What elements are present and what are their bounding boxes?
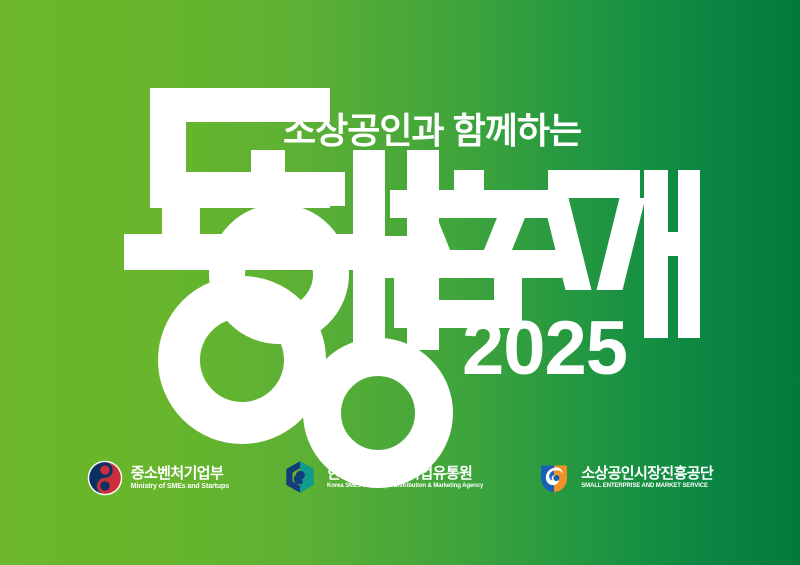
je-jieut-leg-left: [543, 198, 592, 290]
logo-agency-text: 한국중소벤처기업유통원 Korea SMEs & Startups Distri…: [327, 465, 483, 490]
haeng-hieut-bar: [185, 172, 345, 206]
chuk-u-vowel-bar: [382, 250, 562, 278]
logo-ministry-korean-name: 중소벤처기업부: [131, 465, 229, 482]
chuk-chieut-leg-left: [409, 218, 451, 252]
logo-korea-smes-distribution-agency: 한국중소벤처기업유통원 Korea SMEs & Startups Distri…: [283, 460, 483, 496]
logo-small-enterprise-and-market-service: 소상공인시장진흥공단 SMALL ENTERPRISE AND MARKET S…: [537, 460, 713, 496]
logo-ministry-english-name: Ministry of SMEs and Startups: [131, 482, 229, 491]
poster-year: 2025: [462, 311, 627, 387]
je-jieut-leg-right: [597, 198, 646, 290]
logo-agency-korean-name: 한국중소벤처기업유통원: [327, 465, 483, 482]
logo-ministry-of-smes-and-startups: 중소벤처기업부 Ministry of SMEs and Startups: [87, 460, 229, 496]
promotional-poster: 소상공인과 함께하는 2025 중소벤처기업부 Ministry of SMEs…: [0, 0, 800, 565]
logo-agency-english-name: Korea SMEs & Startups Distribution & Mar…: [327, 483, 483, 491]
logo-semas-korean-name: 소상공인시장진흥공단: [581, 465, 713, 482]
sponsor-logo-row: 중소벤처기업부 Ministry of SMEs and Startups 한국…: [0, 453, 800, 503]
chuk-chieut-bar: [390, 190, 548, 218]
haeng-hieut-stub: [251, 150, 285, 172]
logo-ministry-text: 중소벤처기업부 Ministry of SMEs and Startups: [131, 465, 229, 491]
chuk-chieut-leg-right: [483, 218, 525, 252]
taegeuk-swirl-icon: [87, 460, 123, 496]
logo-semas-text: 소상공인시장진흥공단 SMALL ENTERPRISE AND MARKET S…: [581, 465, 713, 490]
logo-semas-english-name: SMALL ENTERPRISE AND MARKET SERVICE: [581, 483, 713, 491]
je-e-stem-right: [678, 170, 700, 338]
hexagon-swirl-icon: [283, 460, 319, 496]
chuk-chieut-dot: [454, 170, 484, 190]
haeng-hieut-ring: [209, 204, 349, 344]
poster-subtitle: 소상공인과 함께하는: [283, 113, 581, 149]
leaf-swirl-icon: [537, 460, 573, 496]
title-artwork: 소상공인과 함께하는 2025: [0, 0, 800, 430]
je-jieut-bar: [548, 170, 640, 198]
